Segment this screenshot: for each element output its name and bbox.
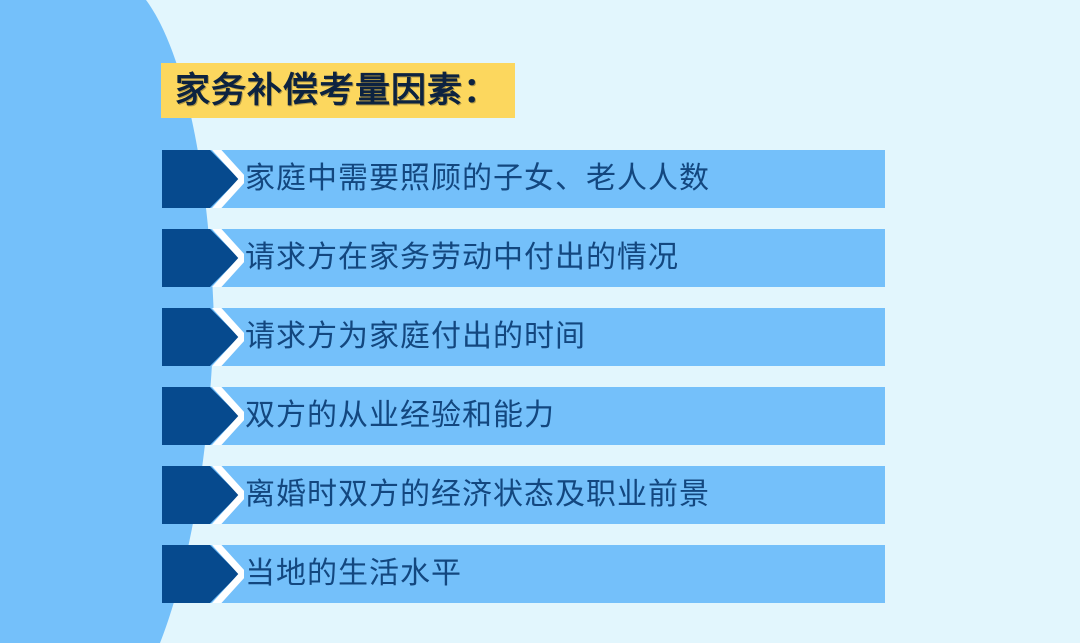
list-item[interactable]: 请求方为家庭付出的时间 [0,308,1080,366]
list-item[interactable]: 请求方在家务劳动中付出的情况 [0,229,1080,287]
list-item-label: 双方的从业经验和能力 [245,387,555,445]
list-item[interactable]: 双方的从业经验和能力 [0,387,1080,445]
slide-canvas: 家务补偿考量因素： 家庭中需要照顾的子女、老人人数 请求方在家务劳动中付出的情 [0,0,1080,643]
list-item-label: 请求方在家务劳动中付出的情况 [245,229,679,287]
list-item-label: 离婚时双方的经济状态及职业前景 [245,466,710,524]
list-item-label: 家庭中需要照顾的子女、老人人数 [245,150,710,208]
arrow-chevron-icon [162,466,244,524]
page-title-band: 家务补偿考量因素： [161,63,515,118]
list-item[interactable]: 家庭中需要照顾的子女、老人人数 [0,150,1080,208]
arrow-chevron-icon [162,387,244,445]
list-item-label: 当地的生活水平 [245,545,462,603]
list-item-label: 请求方为家庭付出的时间 [245,308,586,366]
factors-list: 家庭中需要照顾的子女、老人人数 请求方在家务劳动中付出的情况 请求方为家庭付出的… [0,150,1080,603]
list-item[interactable]: 离婚时双方的经济状态及职业前景 [0,466,1080,524]
arrow-chevron-icon [162,229,244,287]
arrow-chevron-icon [162,545,244,603]
page-title: 家务补偿考量因素： [175,73,499,108]
arrow-chevron-icon [162,150,244,208]
arrow-chevron-icon [162,308,244,366]
list-item[interactable]: 当地的生活水平 [0,545,1080,603]
